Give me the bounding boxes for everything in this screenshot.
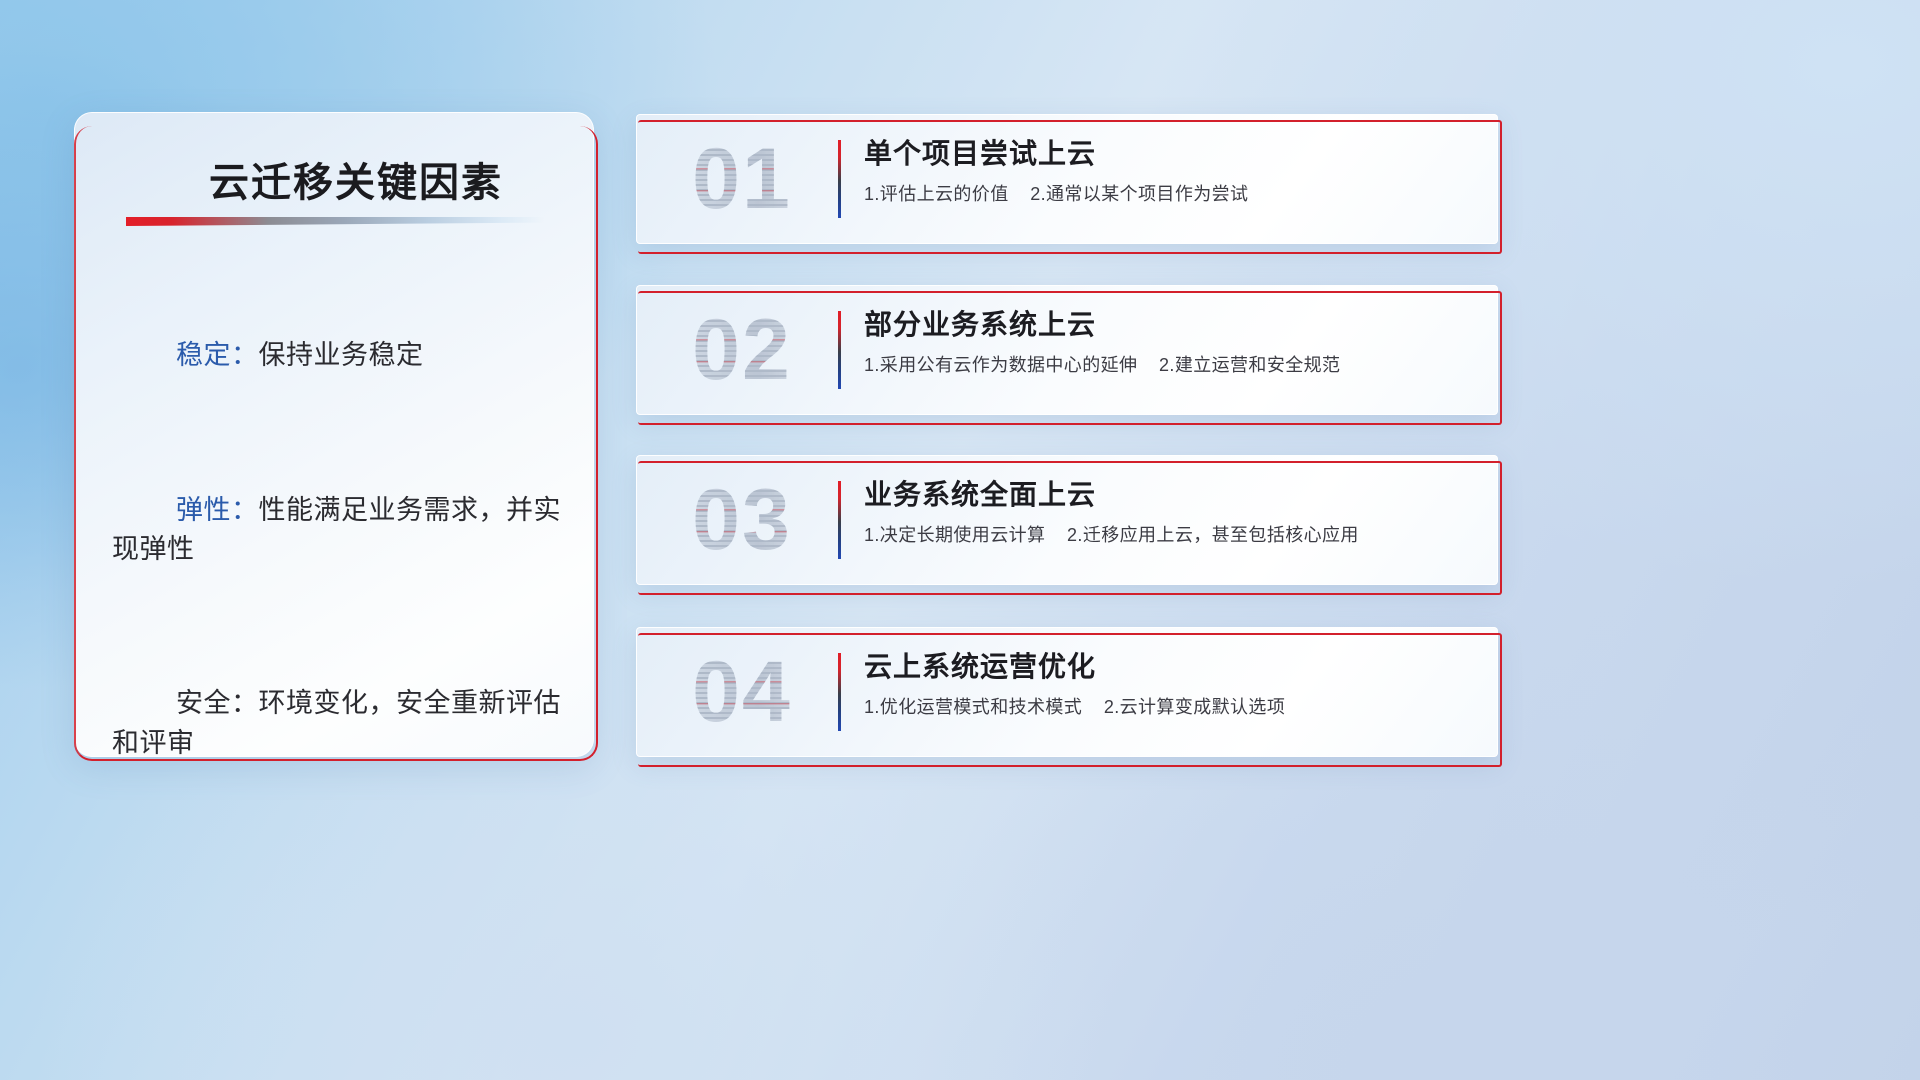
stage-divider-bar	[838, 140, 841, 218]
key-factors-card: 云迁移关键因素 稳定：保持业务稳定 弹性：性能满足业务需求，并实现弹性 安全：环…	[74, 112, 594, 757]
list-item-label: 弹性：	[176, 495, 259, 525]
stage-card-01[interactable]: 01 01 单个项目尝试上云 1.评估上云的价值 2.通常以某个项目作为尝试	[636, 114, 1498, 244]
stage-title: 部分业务系统上云	[864, 303, 1096, 343]
page-title: 云迁移关键因素	[166, 150, 546, 208]
stage-card-04[interactable]: 04 04 云上系统运营优化 1.优化运营模式和技术模式 2.云计算变成默认选项	[636, 627, 1498, 757]
stage-divider-bar	[838, 311, 841, 389]
stage-title: 云上系统运营优化	[864, 645, 1096, 685]
title-underline-gradient	[126, 217, 544, 226]
stage-number-glitch-overlay: 04	[662, 637, 822, 747]
stage-description: 1.采用公有云作为数据中心的延伸 2.建立运营和安全规范	[864, 351, 1480, 377]
list-item-label: 稳定：	[176, 340, 259, 370]
key-factors-list: 稳定：保持业务稳定 弹性：性能满足业务需求，并实现弹性 安全：环境变化，安全重新…	[112, 297, 570, 757]
list-item: 稳定：保持业务稳定	[112, 297, 570, 415]
list-item: 安全：环境变化，安全重新评估和评审	[112, 645, 570, 757]
stage-divider-bar	[838, 653, 841, 731]
stage-card-02[interactable]: 02 02 部分业务系统上云 1.采用公有云作为数据中心的延伸 2.建立运营和安…	[636, 285, 1498, 415]
stage-description: 1.评估上云的价值 2.通常以某个项目作为尝试	[864, 180, 1480, 206]
stage-number-glitch-overlay: 03	[662, 465, 822, 575]
stage-divider-bar	[838, 481, 841, 559]
stage-description: 1.优化运营模式和技术模式 2.云计算变成默认选项	[864, 693, 1480, 719]
stage-description: 1.决定长期使用云计算 2.迁移应用上云，甚至包括核心应用	[864, 521, 1480, 547]
list-item-label: 安全：	[176, 688, 259, 718]
stage-number-glitch-overlay: 01	[662, 124, 822, 234]
stage-card-03[interactable]: 03 03 业务系统全面上云 1.决定长期使用云计算 2.迁移应用上云，甚至包括…	[636, 455, 1498, 585]
slide-stage: 云迁移关键因素 稳定：保持业务稳定 弹性：性能满足业务需求，并实现弹性 安全：环…	[0, 0, 1920, 1080]
list-item-text: 保持业务稳定	[259, 340, 424, 370]
stage-title: 业务系统全面上云	[864, 473, 1096, 513]
stage-number-glitch-overlay: 02	[662, 295, 822, 405]
stage-title: 单个项目尝试上云	[864, 132, 1096, 172]
list-item: 弹性：性能满足业务需求，并实现弹性	[112, 451, 570, 609]
